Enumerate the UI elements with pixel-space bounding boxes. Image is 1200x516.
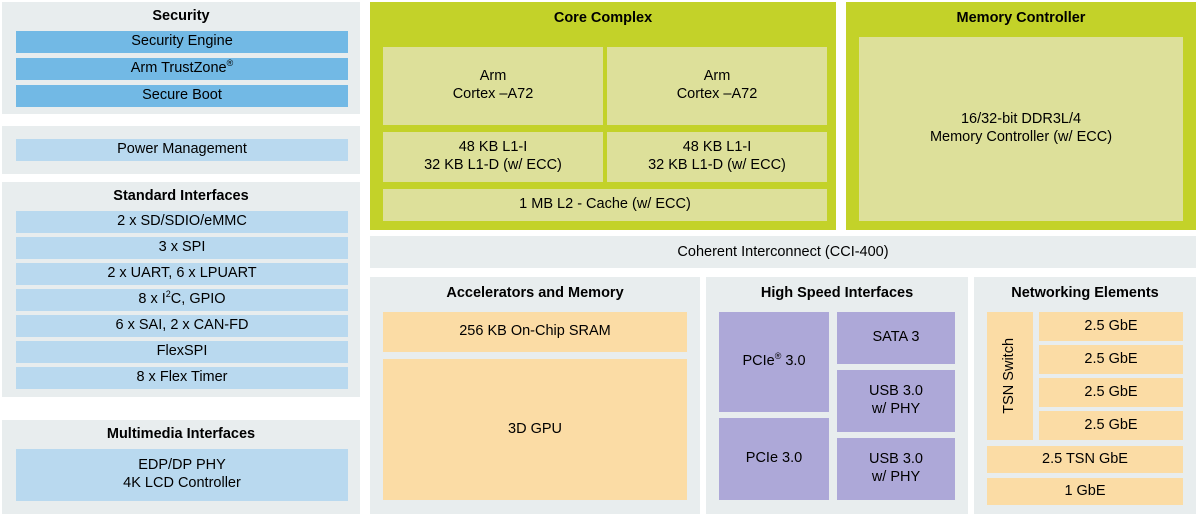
block-pcie-3-0-b[interactable]: PCIe 3.0: [719, 418, 829, 500]
block-l2-cache[interactable]: 1 MB L2 - Cache (w/ ECC): [383, 189, 827, 221]
block-2-5-gbe-1[interactable]: 2.5 GbE: [1039, 345, 1183, 374]
block-edp-dp-phy-lcd[interactable]: EDP/DP PHY 4K LCD Controller: [16, 449, 348, 501]
block-sd-sdio-emmc[interactable]: 2 x SD/SDIO/eMMC: [16, 211, 348, 233]
panel-multimedia-interfaces: Multimedia Interfaces EDP/DP PHY 4K LCD …: [2, 420, 360, 514]
block-sai-canfd[interactable]: 6 x SAI, 2 x CAN-FD: [16, 315, 348, 337]
panel-networking-elements: Networking Elements TSN Switch 2.5 GbE 2…: [974, 277, 1196, 514]
panel-power-management: Power Management: [2, 126, 360, 174]
block-flex-timer[interactable]: 8 x Flex Timer: [16, 367, 348, 389]
soc-block-diagram: Security Security Engine Arm TrustZone® …: [0, 0, 1200, 516]
block-arm-cortex-a72-0[interactable]: Arm Cortex –A72: [383, 47, 603, 125]
block-2-5-tsn-gbe[interactable]: 2.5 TSN GbE: [987, 446, 1183, 473]
block-flexspi[interactable]: FlexSPI: [16, 341, 348, 363]
block-tsn-switch[interactable]: TSN Switch: [987, 312, 1033, 440]
block-2-5-gbe-0[interactable]: 2.5 GbE: [1039, 312, 1183, 341]
block-power-management[interactable]: Power Management: [16, 139, 348, 161]
block-on-chip-sram[interactable]: 256 KB On-Chip SRAM: [383, 312, 687, 352]
block-arm-trustzone[interactable]: Arm TrustZone®: [16, 58, 348, 80]
panel-accelerators-and-memory: Accelerators and Memory 256 KB On-Chip S…: [370, 277, 700, 514]
block-uart-lpuart[interactable]: 2 x UART, 6 x LPUART: [16, 263, 348, 285]
panel-memory-controller-title: Memory Controller: [846, 11, 1196, 27]
panel-core-complex: Core Complex Arm Cortex –A72 Arm Cortex …: [370, 2, 836, 230]
panel-standard-interfaces: Standard Interfaces 2 x SD/SDIO/eMMC 3 x…: [2, 182, 360, 397]
block-pcie-3-0-a[interactable]: PCIe® 3.0: [719, 312, 829, 412]
block-arm-cortex-a72-1[interactable]: Arm Cortex –A72: [607, 47, 827, 125]
block-coherent-interconnect[interactable]: Coherent Interconnect (CCI-400): [370, 236, 1196, 268]
panel-high-speed-interfaces-title: High Speed Interfaces: [706, 286, 968, 302]
block-ddr-memory-controller[interactable]: 16/32-bit DDR3L/4 Memory Controller (w/ …: [859, 37, 1183, 221]
block-security-engine[interactable]: Security Engine: [16, 31, 348, 53]
panel-memory-controller: Memory Controller 16/32-bit DDR3L/4 Memo…: [846, 2, 1196, 230]
coherent-interconnect-label: Coherent Interconnect (CCI-400): [677, 244, 888, 260]
block-secure-boot[interactable]: Secure Boot: [16, 85, 348, 107]
block-usb-3-0-a[interactable]: USB 3.0 w/ PHY: [837, 370, 955, 432]
panel-core-complex-title: Core Complex: [370, 11, 836, 27]
block-2-5-gbe-2[interactable]: 2.5 GbE: [1039, 378, 1183, 407]
block-l1-cache-1[interactable]: 48 KB L1-I 32 KB L1-D (w/ ECC): [607, 132, 827, 182]
block-sata-3[interactable]: SATA 3: [837, 312, 955, 364]
panel-security-title: Security: [2, 9, 360, 25]
block-i2c-gpio[interactable]: 8 x I2C, GPIO: [16, 289, 348, 311]
panel-standard-interfaces-title: Standard Interfaces: [2, 189, 360, 205]
panel-high-speed-interfaces: High Speed Interfaces PCIe® 3.0 PCIe 3.0…: [706, 277, 968, 514]
block-2-5-gbe-3[interactable]: 2.5 GbE: [1039, 411, 1183, 440]
block-spi[interactable]: 3 x SPI: [16, 237, 348, 259]
block-3d-gpu[interactable]: 3D GPU: [383, 359, 687, 500]
panel-multimedia-interfaces-title: Multimedia Interfaces: [2, 427, 360, 443]
panel-accelerators-and-memory-title: Accelerators and Memory: [370, 286, 700, 302]
panel-security: Security Security Engine Arm TrustZone® …: [2, 2, 360, 114]
block-usb-3-0-b[interactable]: USB 3.0 w/ PHY: [837, 438, 955, 500]
block-l1-cache-0[interactable]: 48 KB L1-I 32 KB L1-D (w/ ECC): [383, 132, 603, 182]
block-1-gbe[interactable]: 1 GbE: [987, 478, 1183, 505]
panel-networking-elements-title: Networking Elements: [974, 286, 1196, 302]
tsn-switch-label: TSN Switch: [1001, 338, 1019, 414]
